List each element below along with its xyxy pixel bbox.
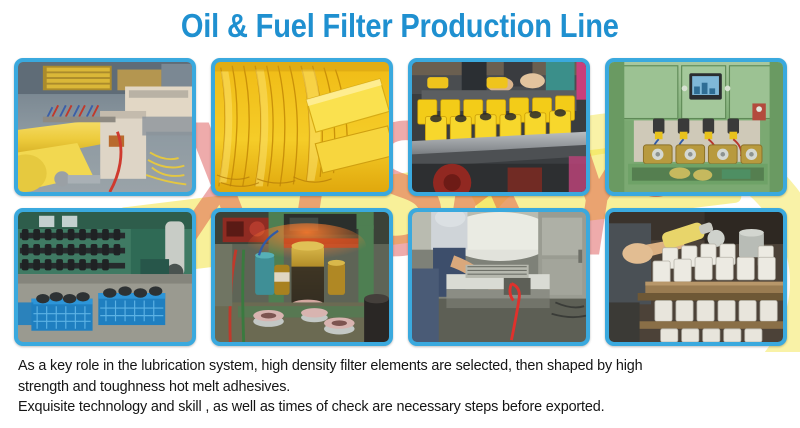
description-text: As a key role in the lubrication system,… <box>18 356 786 418</box>
gallery-photo-8[interactable] <box>605 208 787 346</box>
gallery-photo-2[interactable] <box>211 58 393 196</box>
page-title: Oil & Fuel Filter Production Line <box>181 6 619 46</box>
photo-3-image <box>412 62 586 192</box>
caption-line-1: As a key role in the lubrication system,… <box>18 356 786 377</box>
gallery-photo-5[interactable] <box>14 208 196 346</box>
gallery-photo-1[interactable] <box>14 58 196 196</box>
photo-6-image <box>215 212 389 342</box>
gallery-photo-3[interactable] <box>408 58 590 196</box>
photo-2-image <box>215 62 389 192</box>
gallery-photo-7[interactable] <box>408 208 590 346</box>
title-bar: Oil & Fuel Filter Production Line <box>0 6 800 50</box>
photo-1-image <box>18 62 192 192</box>
gallery-photo-4[interactable] <box>605 58 787 196</box>
photo-5-image <box>18 212 192 342</box>
caption-line-3: Exquisite technology and skill , as well… <box>18 397 786 418</box>
photo-7-image <box>412 212 586 342</box>
gallery-photo-6[interactable] <box>211 208 393 346</box>
caption-line-2: strength and toughness hot melt adhesive… <box>18 377 786 398</box>
photo-8-image <box>609 212 783 342</box>
product-banner: Oil & Fuel Filter Production Line XTSKY … <box>0 0 800 428</box>
photo-4-image <box>609 62 783 192</box>
